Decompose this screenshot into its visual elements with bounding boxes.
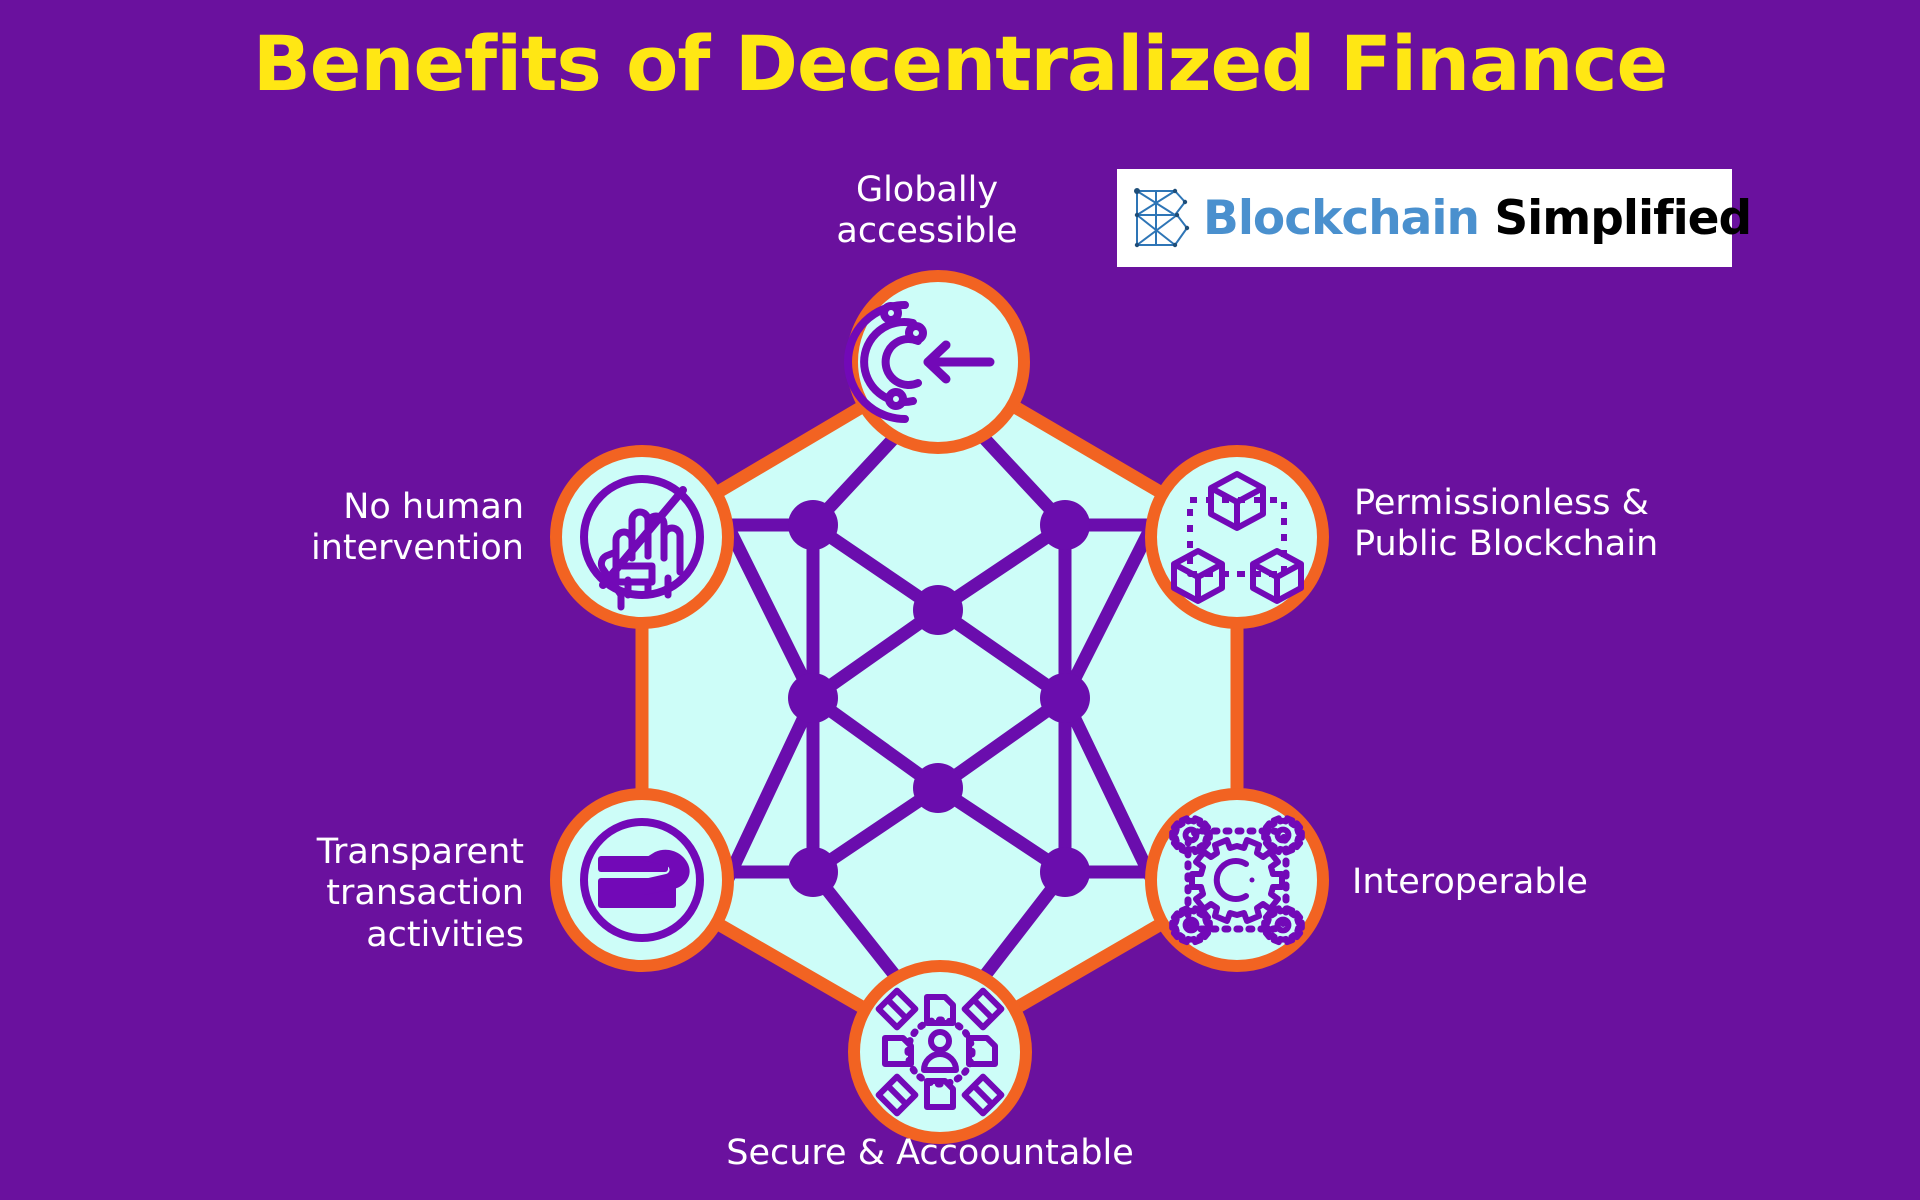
benefit-badge-permissionless-public-blockchain[interactable] <box>1151 451 1323 623</box>
benefit-badge-secure-accountable[interactable] <box>854 966 1026 1138</box>
benefit-label-secure-accountable: Secure & Accoountable <box>600 1133 1260 1174</box>
brand-word-blockchain: Blockchain <box>1203 191 1479 246</box>
benefit-badge-globally-accessible[interactable] <box>848 276 1024 448</box>
infographic-canvas: Benefits of Decentralized Finance Blockc… <box>0 0 1920 1200</box>
hexagon-panel <box>642 362 1237 1052</box>
brand-word-simplified: Simplified <box>1494 191 1751 246</box>
benefit-label-interoperable: Interoperable <box>1352 862 1772 903</box>
benefit-label-transparent-transaction-activities: Transparent transaction activities <box>204 832 524 956</box>
benefit-badge-interoperable[interactable] <box>1151 794 1323 966</box>
benefit-badge-transparent-transaction-activities[interactable] <box>556 794 728 966</box>
benefit-label-no-human-intervention: No human intervention <box>224 487 524 570</box>
benefit-label-permissionless-public-blockchain: Permissionless & Public Blockchain <box>1354 483 1774 566</box>
benefit-label-globally-accessible: Globally accessible <box>767 170 1087 253</box>
benefit-badge-no-human-intervention[interactable] <box>556 451 728 623</box>
brand-logo-text: Blockchain Simplified <box>1203 191 1751 246</box>
brand-logo[interactable]: Blockchain Simplified <box>1117 169 1732 267</box>
page-title: Benefits of Decentralized Finance <box>0 24 1920 104</box>
blockchain-network-b-icon <box>1131 185 1193 251</box>
